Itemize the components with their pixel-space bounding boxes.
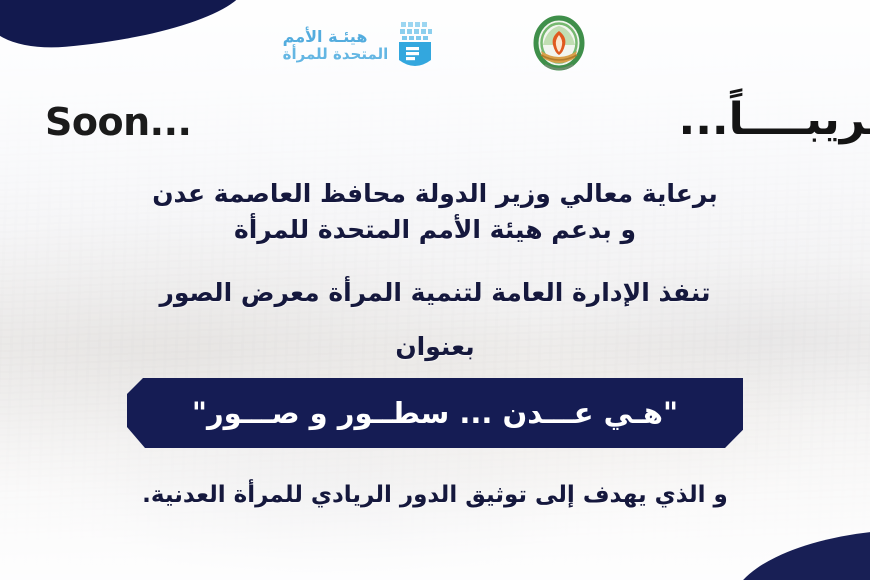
organizer-line: تنفذ الإدارة العامة لتنمية المرأة معرض ا… bbox=[0, 275, 870, 311]
poster-header: هيئـة الأمم المتحدة للمرأة bbox=[0, 6, 870, 84]
closing-line-text: و الذي يهدف إلى توثيق الدور الريادي للمر… bbox=[0, 482, 870, 508]
announcement-poster: هيئـة الأمم المتحدة للمرأة Soon... قريبـ… bbox=[0, 0, 870, 580]
exhibition-title-banner: "هـي عـــدن ... سطــور و صـــور" bbox=[127, 378, 743, 448]
closing-statement: و الذي يهدف إلى توثيق الدور الريادي للمر… bbox=[0, 482, 870, 508]
coming-soon-row: Soon... قريبــــاً... bbox=[0, 96, 870, 158]
soon-label-arabic: قريبــــاً... bbox=[679, 94, 870, 145]
aden-governorate-emblem-icon bbox=[531, 15, 587, 75]
un-women-wordmark: هيئـة الأمم المتحدة للمرأة bbox=[283, 28, 389, 63]
un-women-logo: هيئـة الأمم المتحدة للمرأة bbox=[283, 20, 436, 70]
patron-line-2: و بدعم هيئة الأمم المتحدة للمرأة bbox=[0, 212, 870, 248]
titled-label: بعنوان bbox=[0, 329, 870, 365]
exhibition-title-text: "هـي عـــدن ... سطــور و صـــور" bbox=[192, 396, 678, 430]
un-women-mark-icon bbox=[395, 20, 435, 70]
un-women-text-line-2: المتحدة للمرأة bbox=[283, 46, 389, 63]
un-women-text-line-1: هيئـة الأمم bbox=[283, 28, 368, 46]
patron-line-1: برعاية معالي وزير الدولة محافظ العاصمة ع… bbox=[0, 176, 870, 212]
soon-label-english: Soon... bbox=[45, 100, 191, 144]
poster-body: برعاية معالي وزير الدولة محافظ العاصمة ع… bbox=[0, 176, 870, 364]
exhibition-title-banner-wrap: "هـي عـــدن ... سطــور و صـــور" bbox=[0, 378, 870, 448]
